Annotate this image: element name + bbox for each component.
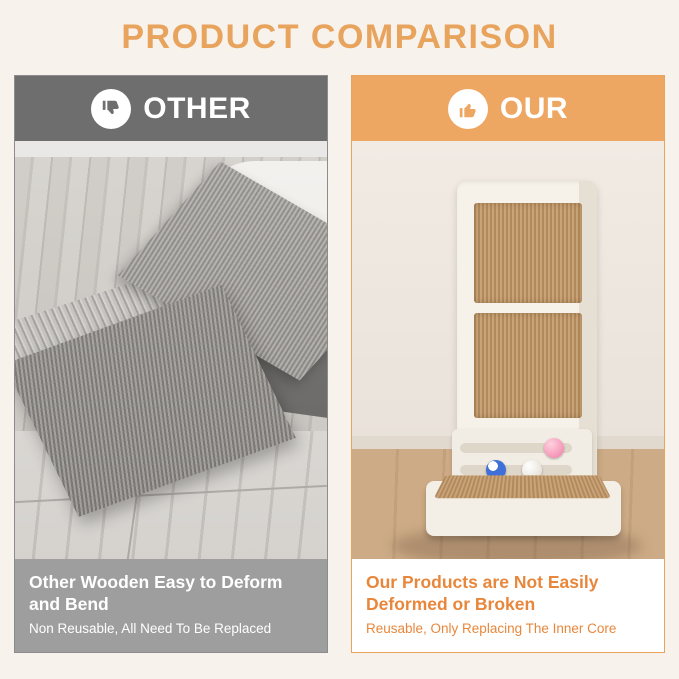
thumbs-down-icon bbox=[91, 89, 131, 129]
caption-other: Other Wooden Easy to Deform and Bend Non… bbox=[15, 559, 327, 652]
our-ball-track-slot-bottom bbox=[460, 465, 572, 475]
caption-our: Our Products are Not Easily Deformed or … bbox=[352, 559, 664, 652]
product-comparison-page: PRODUCT COMPARISON OTHER bbox=[0, 0, 679, 679]
other-scene bbox=[15, 141, 327, 561]
caption-sub-other: Non Reusable, All Need To Be Replaced bbox=[29, 621, 313, 637]
panel-title-other: OTHER bbox=[143, 92, 251, 126]
toy-ball-pink bbox=[544, 438, 564, 458]
caption-main-our: Our Products are Not Easily Deformed or … bbox=[366, 571, 650, 615]
our-base-corrugated-pad bbox=[434, 475, 611, 498]
our-corrugated-pad-top bbox=[474, 203, 582, 303]
our-corrugated-pad-middle bbox=[474, 313, 582, 418]
page-title: PRODUCT COMPARISON bbox=[0, 18, 679, 57]
caption-main-other: Other Wooden Easy to Deform and Bend bbox=[29, 571, 313, 615]
our-scene bbox=[352, 141, 664, 561]
product-photo-other bbox=[15, 141, 327, 561]
panel-title-our: OUR bbox=[500, 92, 568, 126]
comparison-panel-our: OUR bbox=[351, 75, 665, 653]
other-grayscale-overlay bbox=[15, 141, 327, 561]
product-photo-our bbox=[352, 141, 664, 561]
panel-header-other: OTHER bbox=[15, 76, 327, 141]
thumbs-up-icon bbox=[448, 89, 488, 129]
comparison-panel-other: OTHER Other Wooden Easy to Deform and Be… bbox=[14, 75, 328, 653]
caption-sub-our: Reusable, Only Replacing The Inner Core bbox=[366, 621, 650, 637]
panel-header-our: OUR bbox=[352, 76, 664, 141]
